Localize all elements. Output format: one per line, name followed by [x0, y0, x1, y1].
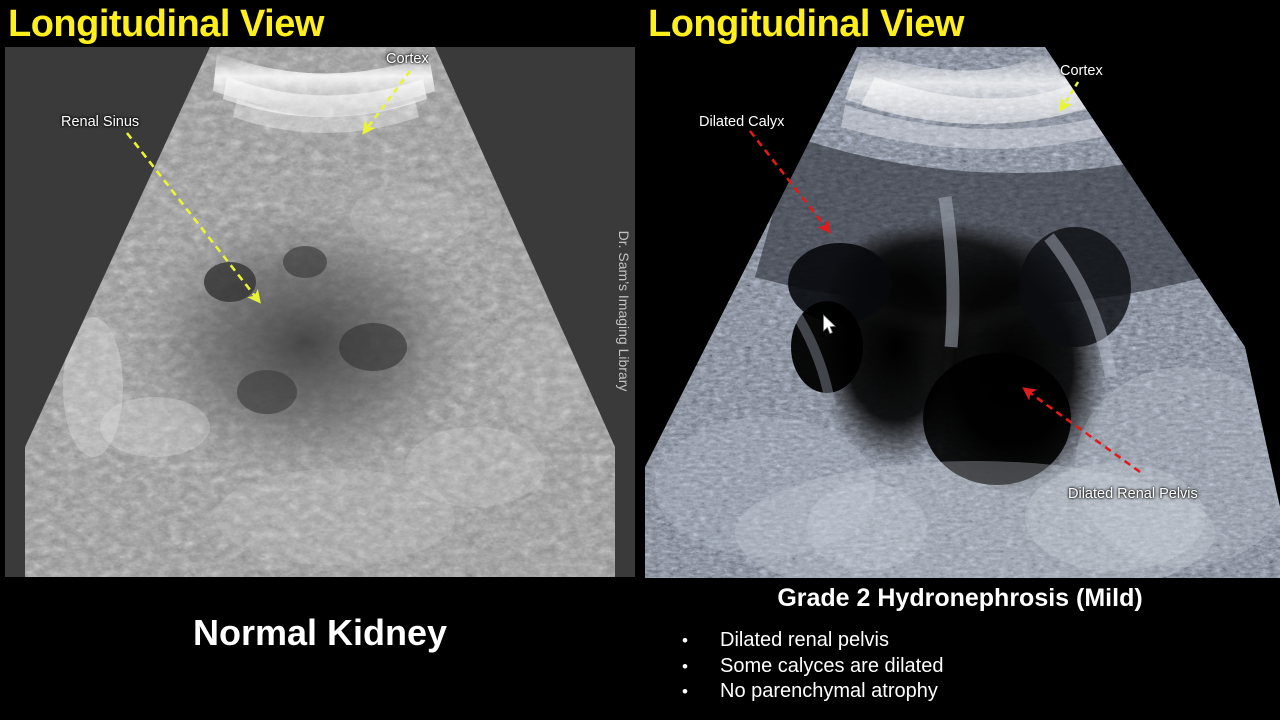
list-item: • Dilated renal pelvis	[676, 628, 1276, 654]
findings-list: • Dilated renal pelvis • Some calyces ar…	[676, 628, 1276, 705]
label-renal-sinus: Renal Sinus	[61, 114, 139, 130]
label-dilated-renal-pelvis: Dilated Renal Pelvis	[1068, 486, 1198, 502]
watermark: Dr. Sam’s Imaging Library	[612, 196, 636, 426]
mouse-pointer-cursor	[822, 314, 838, 336]
watermark-text: Dr. Sam’s Imaging Library	[616, 231, 632, 392]
list-item: • No parenchymal atrophy	[676, 679, 1276, 705]
panel-title-left: Longitudinal View	[8, 2, 324, 46]
list-item: • Some calyces are dilated	[676, 654, 1276, 680]
bullet-marker-icon: •	[676, 679, 720, 704]
list-item-label: No parenchymal atrophy	[720, 679, 938, 704]
caption-normal-kidney: Normal Kidney	[0, 612, 640, 654]
list-item-label: Some calyces are dilated	[720, 654, 943, 679]
bullet-marker-icon: •	[676, 654, 720, 679]
caption-hydronephrosis-grade: Grade 2 Hydronephrosis (Mild)	[645, 584, 1275, 613]
label-dilated-calyx: Dilated Calyx	[699, 114, 784, 130]
bullet-marker-icon: •	[676, 628, 720, 653]
label-cortex-left: Cortex	[386, 51, 429, 67]
list-item-label: Dilated renal pelvis	[720, 628, 889, 653]
comparison-figure: Longitudinal View Longitudinal View	[0, 0, 1280, 720]
label-cortex-right: Cortex	[1060, 63, 1103, 79]
panel-title-right: Longitudinal View	[648, 2, 964, 46]
